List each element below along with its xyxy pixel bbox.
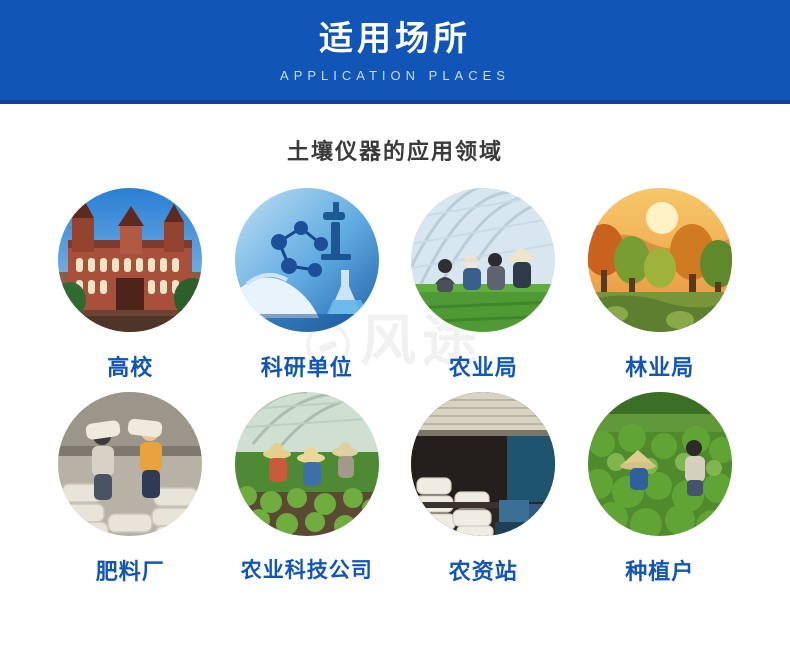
place-label: 种植户 — [625, 554, 694, 586]
places-grid: 高校 — [0, 188, 790, 586]
place-card[interactable]: 农业局 — [395, 188, 572, 382]
place-card[interactable]: 种植户 — [572, 392, 749, 586]
place-label: 农资站 — [449, 554, 518, 586]
place-label: 高校 — [107, 350, 153, 382]
banner-subtitle: APPLICATION PLACES — [280, 65, 510, 87]
university-building-photo — [58, 188, 202, 332]
section-heading: 土壤仪器的应用领域 — [0, 134, 790, 166]
place-card[interactable]: 肥料厂 — [42, 392, 219, 586]
place-card[interactable]: 农业科技公司 — [219, 392, 396, 586]
place-card[interactable]: 高校 — [42, 188, 219, 382]
place-card[interactable]: 林业局 — [572, 188, 749, 382]
page-banner: 适用场所 APPLICATION PLACES — [0, 0, 790, 104]
greenhouse-field-workers-photo — [411, 188, 555, 332]
laboratory-research-photo — [235, 188, 379, 332]
fertilizer-factory-bags-photo — [58, 392, 202, 536]
application-places-page: 适用场所 APPLICATION PLACES 土壤仪器的应用领域 风途 — [0, 0, 790, 664]
place-card[interactable]: 农资站 — [395, 392, 572, 586]
agricultural-supply-warehouse-photo — [411, 392, 555, 536]
place-label: 农业科技公司 — [241, 554, 373, 584]
banner-title: 适用场所 — [319, 17, 471, 61]
greenhouse-seedling-workers-photo — [235, 392, 379, 536]
autumn-forest-photo — [588, 188, 732, 332]
vegetable-field-farmers-photo — [588, 392, 732, 536]
place-label: 科研单位 — [261, 350, 353, 382]
place-card[interactable]: 科研单位 — [219, 188, 396, 382]
place-label: 林业局 — [625, 350, 694, 382]
place-label: 农业局 — [449, 350, 518, 382]
place-label: 肥料厂 — [96, 554, 165, 586]
